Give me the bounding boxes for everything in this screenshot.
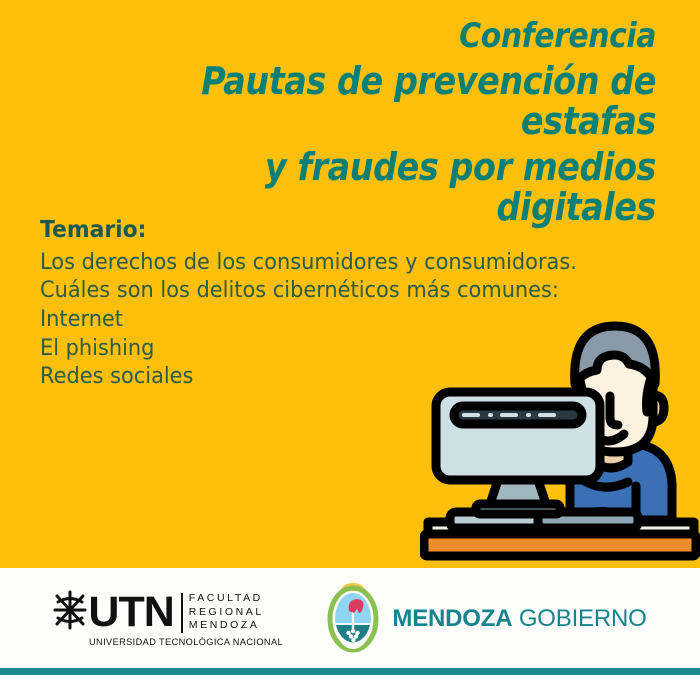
bottom-accent-bar bbox=[0, 668, 700, 675]
person-sideburn-right bbox=[647, 378, 652, 412]
utn-divider bbox=[181, 593, 183, 633]
poster: Conferencia Pautas de prevención de esta… bbox=[0, 0, 700, 675]
utn-faculty-line-2: REGIONAL bbox=[189, 606, 264, 620]
title-line-pautas: Pautas de prevención de estafas bbox=[119, 61, 656, 142]
utn-wordmark: UTN bbox=[88, 591, 173, 634]
desk-front bbox=[424, 534, 696, 556]
utn-faculty-lines: FACULTAD REGIONAL MENDOZA bbox=[189, 592, 264, 633]
poster-title: Conferencia Pautas de prevención de esta… bbox=[46, 18, 656, 227]
utn-tagline: UNIVERSIDAD TECNOLÓGICA NACIONAL bbox=[89, 637, 283, 648]
mendoza-bold-text: MENDOZA bbox=[392, 605, 512, 632]
person-at-computer-illustration bbox=[420, 300, 700, 562]
utn-faculty-line-1: FACULTAD bbox=[189, 592, 264, 606]
title-line-fraudes: y fraudes por medios digitales bbox=[119, 147, 656, 228]
title-line-conferencia: Conferencia bbox=[119, 18, 656, 54]
footer-logos: UTN FACULTAD REGIONAL MENDOZA UNIVERSIDA… bbox=[0, 568, 700, 670]
utn-logo: UTN FACULTAD REGIONAL MENDOZA UNIVERSIDA… bbox=[53, 590, 289, 648]
mendoza-gobierno-logo: MENDOZA GOBIERNO bbox=[327, 581, 646, 658]
gobierno-light-text: GOBIERNO bbox=[519, 605, 647, 632]
utn-sun-icon bbox=[53, 590, 87, 635]
agenda-item-derechos: Los derechos de los consumidores y consu… bbox=[40, 249, 582, 278]
utn-faculty-line-3: MENDOZA bbox=[189, 619, 264, 633]
mendoza-gobierno-text: MENDOZA GOBIERNO bbox=[392, 605, 646, 633]
agenda-heading: Temario: bbox=[40, 216, 582, 246]
screen-title-bar-dashes bbox=[462, 413, 556, 417]
mendoza-coat-of-arms-icon bbox=[327, 581, 379, 658]
